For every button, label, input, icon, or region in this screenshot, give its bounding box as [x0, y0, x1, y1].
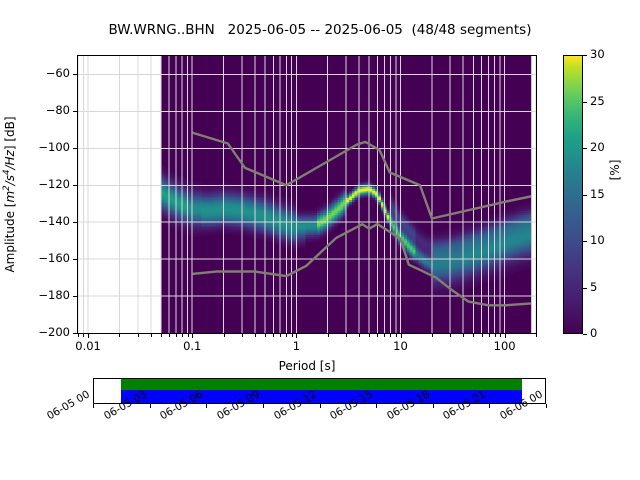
ppsd-canvas	[78, 56, 536, 333]
x-tick-mark	[369, 334, 370, 337]
y-tick-label: −100	[38, 140, 70, 154]
x-tick-mark	[273, 334, 274, 337]
x-tick-label: 10	[371, 339, 431, 353]
colorbar-tick-label: 25	[590, 94, 605, 108]
x-tick-mark	[328, 334, 329, 337]
x-tick-mark	[224, 334, 225, 337]
x-tick-mark	[119, 334, 120, 337]
y-tick-label: −160	[38, 251, 70, 265]
x-tick-mark	[396, 334, 397, 337]
x-tick-mark	[151, 334, 152, 337]
coverage-tick-mark	[320, 404, 321, 408]
colorbar-tick-mark	[583, 334, 587, 335]
colorbar-tick-label: 20	[590, 140, 605, 154]
coverage-tick-mark	[150, 404, 151, 408]
y-tick-label: −180	[38, 288, 70, 302]
colorbar-tick-label: 30	[590, 47, 605, 61]
y-tick-label: −120	[38, 177, 70, 191]
x-tick-mark	[78, 334, 79, 337]
x-tick-mark	[176, 334, 177, 337]
x-tick-mark	[182, 334, 183, 337]
x-tick-mark	[88, 334, 89, 338]
coverage-tick-label: 06-05 00	[45, 388, 92, 422]
colorbar-tick-label: 10	[590, 233, 605, 247]
x-tick-mark	[286, 334, 287, 337]
y-axis-label: Amplitude [m2/s4/Hz] [dB]	[0, 55, 19, 334]
x-tick-mark	[489, 334, 490, 337]
coverage-tick-mark	[433, 404, 434, 408]
x-tick-mark	[169, 334, 170, 337]
x-tick-mark	[296, 334, 297, 338]
x-tick-mark	[265, 334, 266, 337]
x-tick-mark	[473, 334, 474, 337]
colorbar	[563, 55, 583, 334]
colorbar-tick-mark	[583, 195, 587, 196]
x-tick-mark	[482, 334, 483, 337]
x-tick-mark	[495, 334, 496, 337]
x-tick-mark	[450, 334, 451, 337]
x-tick-mark	[463, 334, 464, 337]
x-tick-mark	[346, 334, 347, 337]
x-tick-mark	[188, 334, 189, 337]
y-tick-label: −80	[46, 103, 70, 117]
x-tick-mark	[161, 334, 162, 337]
colorbar-tick-mark	[583, 102, 587, 103]
x-tick-mark	[292, 334, 293, 337]
colorbar-tick-mark	[583, 241, 587, 242]
x-tick-mark	[432, 334, 433, 337]
x-tick-mark	[192, 334, 193, 338]
x-tick-mark	[390, 334, 391, 337]
y-tick-label: −140	[38, 214, 70, 228]
ppsd-plot-area[interactable]	[77, 55, 537, 334]
ppsd-figure: BW.WRNG..BHN 2025-06-05 -- 2025-06-05 (4…	[0, 0, 640, 480]
y-axis-label-wrapper: Amplitude [m2/s4/Hz] [dB]	[0, 55, 16, 334]
x-tick-mark	[138, 334, 139, 337]
colorbar-tick-label: 5	[590, 280, 597, 294]
x-tick-mark	[242, 334, 243, 337]
x-axis-label: Period [s]	[77, 359, 537, 373]
x-tick-label: 0.01	[58, 339, 118, 353]
coverage-tick-mark	[376, 404, 377, 408]
x-tick-label: 0.1	[162, 339, 222, 353]
coverage-bar-green	[121, 379, 522, 390]
x-tick-mark	[83, 334, 84, 337]
coverage-tick-mark	[263, 404, 264, 408]
colorbar-label-wrapper: [%]	[607, 140, 623, 200]
x-tick-mark	[536, 334, 537, 337]
x-tick-mark	[505, 334, 506, 338]
x-tick-mark	[255, 334, 256, 337]
colorbar-tick-label: 15	[590, 187, 605, 201]
colorbar-tick-mark	[583, 148, 587, 149]
y-tick-label: −200	[38, 325, 70, 339]
x-tick-label: 100	[475, 339, 535, 353]
colorbar-label: [%]	[607, 140, 623, 200]
coverage-tick-mark	[489, 404, 490, 408]
page-title: BW.WRNG..BHN 2025-06-05 -- 2025-06-05 (4…	[0, 22, 640, 38]
x-tick-mark	[280, 334, 281, 337]
x-tick-mark	[500, 334, 501, 337]
x-tick-mark	[359, 334, 360, 337]
y-tick-label: −60	[46, 66, 70, 80]
coverage-tick-mark	[93, 404, 94, 408]
colorbar-tick-mark	[583, 55, 587, 56]
x-tick-label: 1	[266, 339, 326, 353]
coverage-tick-mark	[206, 404, 207, 408]
colorbar-tick-mark	[583, 288, 587, 289]
x-tick-mark	[384, 334, 385, 337]
colorbar-tick-label: 0	[590, 326, 597, 340]
x-tick-mark	[401, 334, 402, 338]
x-tick-mark	[377, 334, 378, 337]
coverage-tick-mark	[546, 404, 547, 408]
